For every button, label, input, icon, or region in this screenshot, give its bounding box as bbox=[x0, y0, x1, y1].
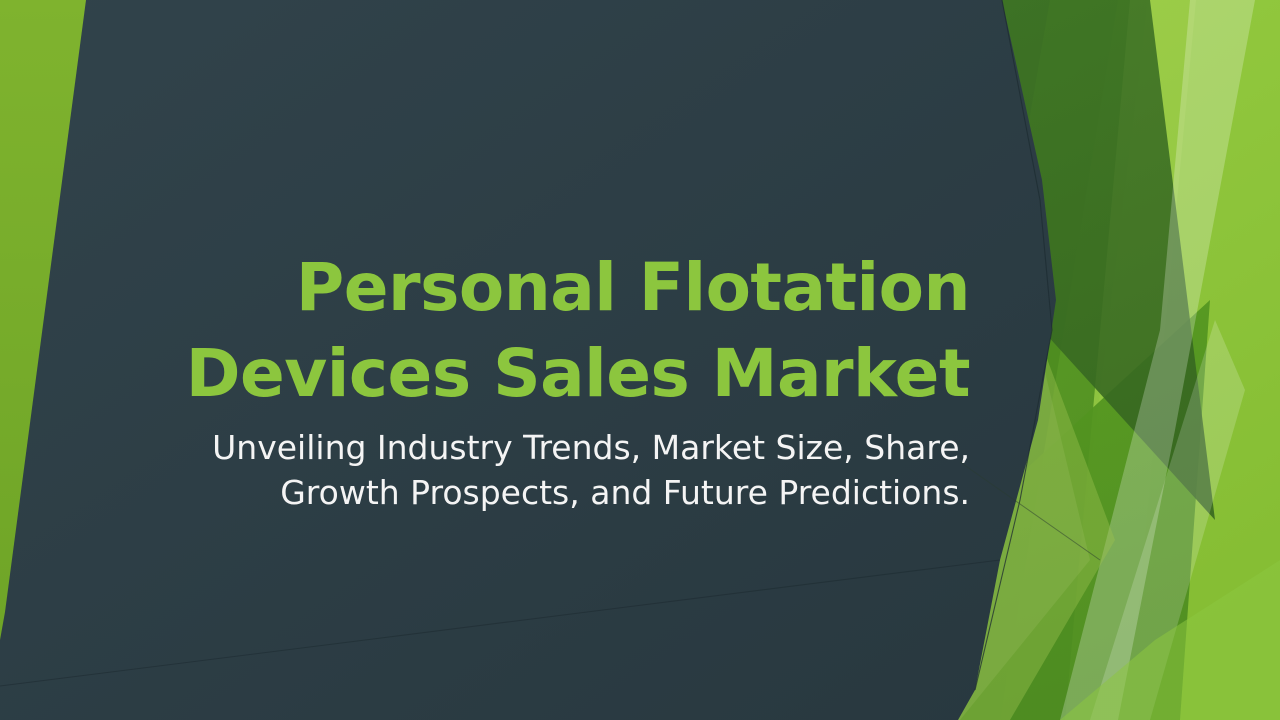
title-text-block: Personal Flotation Devices Sales Market … bbox=[150, 245, 970, 516]
slide-subtitle: Unveiling Industry Trends, Market Size, … bbox=[150, 425, 970, 516]
title-slide: Personal Flotation Devices Sales Market … bbox=[0, 0, 1280, 720]
slide-title: Personal Flotation Devices Sales Market bbox=[150, 245, 970, 417]
